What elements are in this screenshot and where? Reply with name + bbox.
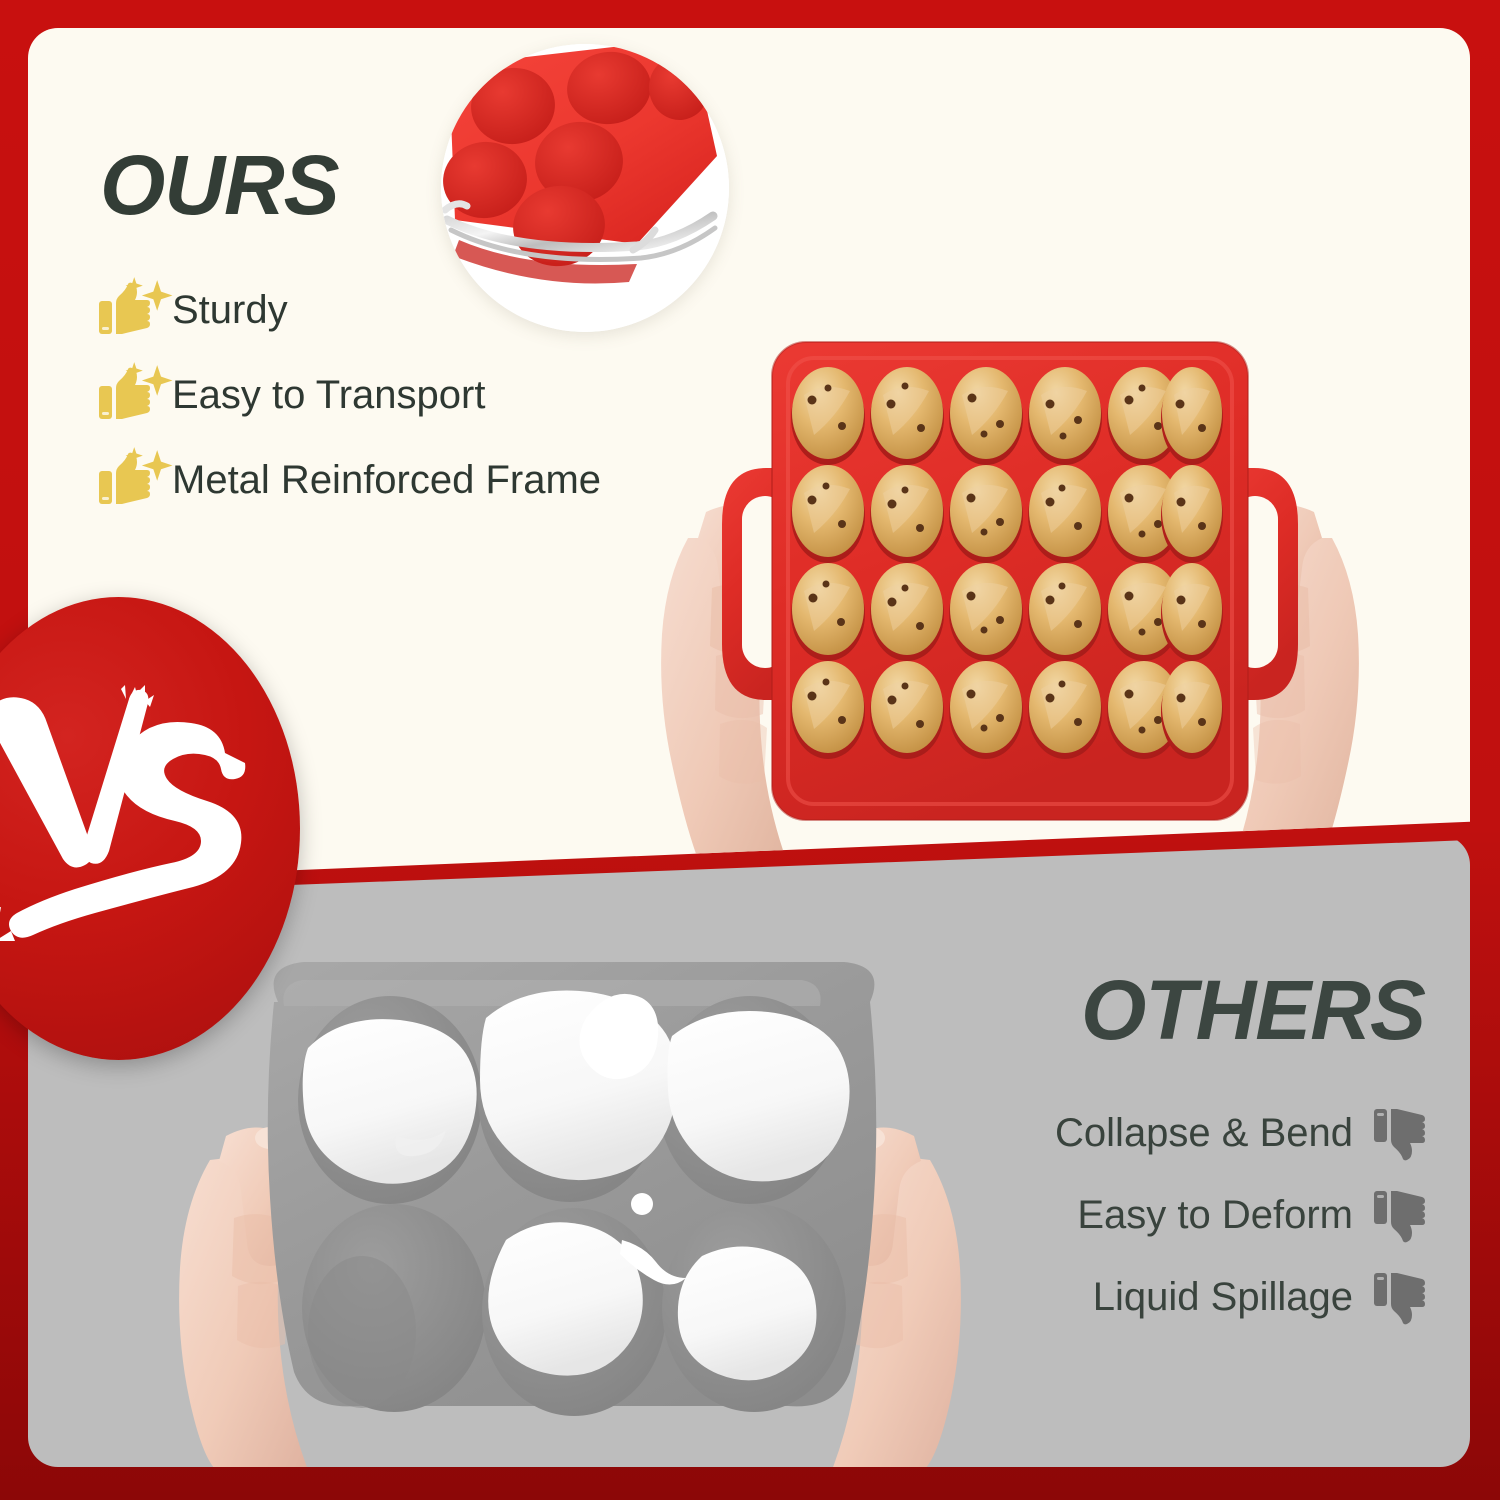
muffin-cell xyxy=(949,661,1023,759)
others-feature-row: Liquid Spillage xyxy=(1093,1270,1425,1324)
others-feature-row: Easy to Deform xyxy=(1077,1188,1425,1242)
muffin-cell xyxy=(1028,563,1102,661)
thumbs-up-icon xyxy=(98,453,150,507)
ours-feature-row: Easy to Transport xyxy=(98,368,601,422)
muffin-cell xyxy=(949,367,1023,465)
ours-detail-inset xyxy=(441,44,729,332)
sparkle-icon xyxy=(122,270,174,324)
others-feature-list: Collapse & Bend Easy to Deform Liqui xyxy=(1055,1106,1425,1324)
versus-brush-lettering xyxy=(0,685,249,975)
thumbs-up-icon xyxy=(98,283,150,337)
muffin-cell xyxy=(870,563,944,661)
muffin-cell xyxy=(791,563,865,661)
muffin-cell xyxy=(949,465,1023,563)
thumbs-down-icon xyxy=(1373,1188,1425,1242)
muffin-cell xyxy=(1161,367,1223,465)
ours-heading: OURS xyxy=(100,143,339,227)
ours-feature-label: Easy to Transport xyxy=(172,373,485,418)
metal-frame-closeup-illustration xyxy=(441,44,729,332)
thumbs-down-icon xyxy=(1373,1106,1425,1160)
ours-feature-row: Metal Reinforced Frame xyxy=(98,453,601,507)
ours-product-image xyxy=(560,300,1460,870)
muffin-cell xyxy=(1028,661,1102,759)
ours-feature-label: Sturdy xyxy=(172,288,288,333)
ours-feature-label: Metal Reinforced Frame xyxy=(172,458,601,503)
muffin-cell xyxy=(791,465,865,563)
sparkle-icon xyxy=(122,355,174,409)
red-muffin-tray xyxy=(722,342,1298,820)
others-feature-label: Easy to Deform xyxy=(1077,1193,1353,1238)
others-feature-label: Collapse & Bend xyxy=(1055,1111,1353,1156)
others-heading: OTHERS xyxy=(1081,968,1425,1052)
muffin-cell xyxy=(1161,563,1223,661)
red-tray-illustration xyxy=(560,300,1460,870)
others-feature-label: Liquid Spillage xyxy=(1093,1275,1353,1320)
thumbs-down-icon xyxy=(1373,1270,1425,1324)
sparkle-icon xyxy=(122,440,174,494)
others-feature-row: Collapse & Bend xyxy=(1055,1106,1425,1160)
muffin-cell xyxy=(1161,661,1223,759)
versus-badge xyxy=(0,597,300,1060)
muffin-cell xyxy=(1028,465,1102,563)
thumbs-up-icon xyxy=(98,368,150,422)
muffin-cell xyxy=(1028,367,1102,465)
muffin-cell xyxy=(949,563,1023,661)
grey-silicone-mould xyxy=(268,962,877,1416)
muffin-cell xyxy=(870,367,944,465)
muffin-cell xyxy=(791,367,865,465)
outer-red-frame: OURS OTHERS Sturdy xyxy=(0,0,1500,1500)
muffin-cell xyxy=(791,661,865,759)
muffin-cell xyxy=(870,661,944,759)
muffin-cell xyxy=(870,465,944,563)
muffin-cell xyxy=(1161,465,1223,563)
